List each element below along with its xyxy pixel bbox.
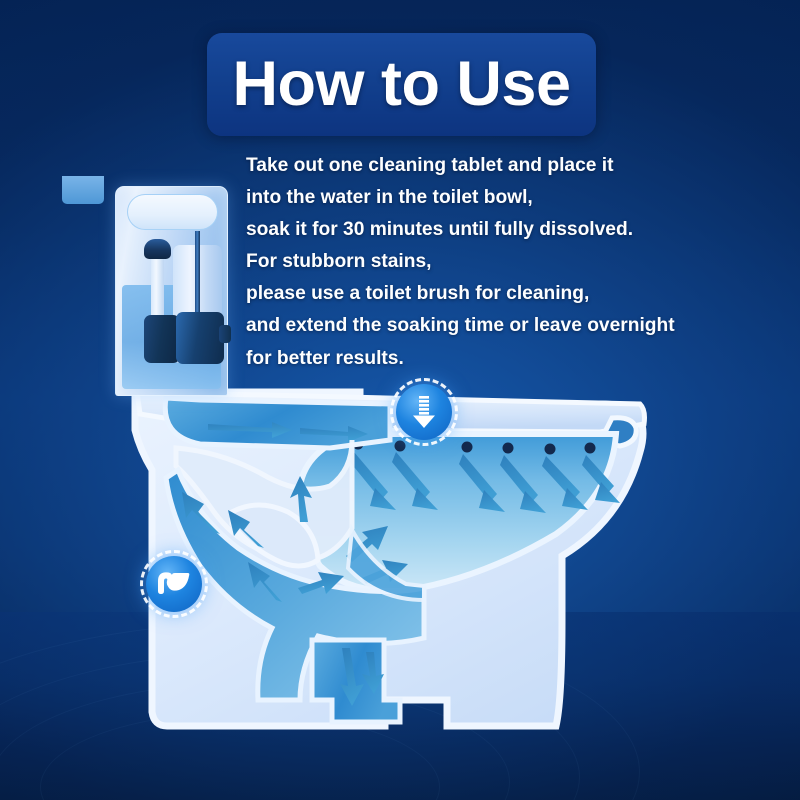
jet-2 [395, 441, 406, 452]
inlet-channel-water [165, 398, 390, 448]
jet-3 [462, 442, 473, 453]
jet-4 [503, 443, 514, 454]
fill-valve-cap [144, 239, 171, 259]
instruction-line: and extend the soaking time or leave ove… [246, 310, 716, 342]
jet-5 [545, 444, 556, 455]
badge-dashed-ring [390, 378, 458, 446]
headline-box: How to Use [207, 33, 596, 136]
water-inlet-badge [396, 384, 452, 440]
instruction-line: For stubborn stains, [246, 246, 716, 278]
toilet-tank [115, 186, 228, 396]
jet-6 [585, 443, 596, 454]
instruction-text-block: Take out one cleaning tablet and place i… [246, 150, 716, 375]
badge-dashed-ring [140, 550, 208, 618]
tank-outlet-neck [62, 176, 104, 204]
siphon-trap-badge [146, 556, 202, 612]
instruction-line: Take out one cleaning tablet and place i… [246, 150, 716, 182]
page-title: How to Use [232, 53, 570, 116]
instruction-line: please use a toilet brush for cleaning, [246, 278, 716, 310]
tank-lid [127, 194, 218, 230]
instruction-line: into the water in the toilet bowl, [246, 182, 716, 214]
valve-base-left [144, 315, 180, 363]
instruction-line: soak it for 30 minutes until fully disso… [246, 214, 716, 246]
valve-side-nub [219, 325, 231, 343]
how-to-use-infographic: How to Use Take out one cleaning tablet … [0, 0, 800, 800]
instruction-line: for better results. [246, 343, 716, 375]
valve-base-right [176, 312, 224, 364]
